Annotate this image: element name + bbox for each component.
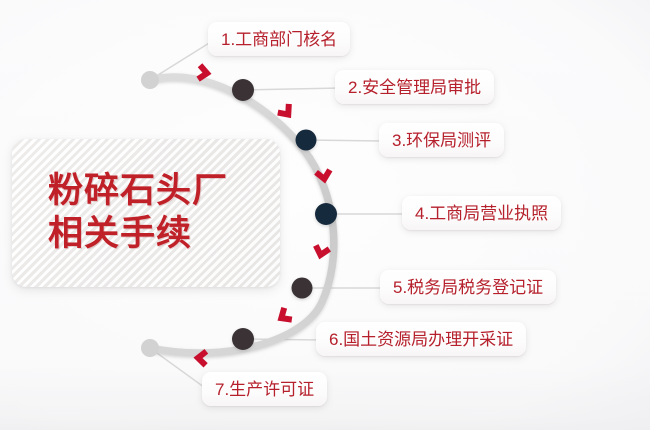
infographic-canvas: 粉碎石头厂 相关手续 1.工商部门核名 2.安全管理局审批 3.环保局测评 4.… xyxy=(0,0,650,430)
milestone-node-step-5[interactable] xyxy=(292,278,313,299)
title-line-1: 粉碎石头厂 xyxy=(48,170,228,213)
step-label-1[interactable]: 1.工商部门核名 xyxy=(208,22,350,56)
direction-arrow-4-icon xyxy=(314,245,330,256)
milestone-node-step-6[interactable] xyxy=(232,328,254,350)
step-label-2[interactable]: 2.安全管理局审批 xyxy=(335,70,494,104)
arc-endpoint-bottom xyxy=(141,339,159,357)
title-card: 粉碎石头厂 相关手续 xyxy=(12,139,280,287)
milestone-node-step-4[interactable] xyxy=(315,203,337,225)
milestone-node-step-2[interactable] xyxy=(232,79,254,101)
milestone-node-step-3[interactable] xyxy=(296,130,317,151)
arc-endpoint-top xyxy=(141,71,159,89)
step-label-7[interactable]: 7.生产许可证 xyxy=(202,372,327,406)
direction-arrow-2-icon xyxy=(278,104,294,119)
step-label-4[interactable]: 4.工商局营业执照 xyxy=(402,196,561,230)
direction-arrow-5-icon xyxy=(278,308,292,324)
connector-step-2 xyxy=(243,88,341,90)
step-label-5[interactable]: 5.税务局税务登记证 xyxy=(380,270,556,304)
connector-step-3 xyxy=(306,140,385,141)
title-line-2: 相关手续 xyxy=(48,213,192,256)
step-label-3[interactable]: 3.环保局测评 xyxy=(379,123,504,157)
step-label-6[interactable]: 6.国土资源局办理开采证 xyxy=(316,322,526,356)
